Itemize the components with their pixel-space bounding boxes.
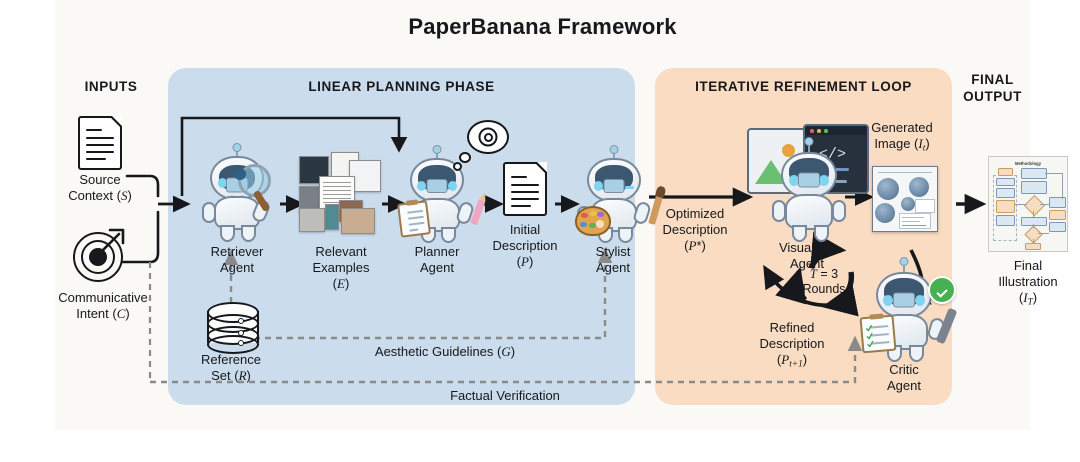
final-illustration-icon: Methodology xyxy=(988,156,1068,252)
aesthetic-guidelines-label: Aesthetic Guidelines (G) xyxy=(295,344,595,360)
gear-icon xyxy=(479,128,498,147)
relevant-examples-label: Relevant Examples (E) xyxy=(293,244,389,292)
retriever-agent-icon xyxy=(194,148,280,240)
source-context-label: Source Context (S) xyxy=(55,172,145,204)
refined-description-label: Refined Description (Pt+1) xyxy=(733,320,851,371)
check-icon xyxy=(867,340,875,348)
doc-fold-inner xyxy=(112,116,122,126)
arrow-icon xyxy=(89,228,133,268)
generated-image-icon xyxy=(872,166,938,232)
check-icon xyxy=(866,332,874,340)
final-illustration-thumb-title: Methodology xyxy=(989,161,1067,166)
doc-line xyxy=(86,137,115,139)
loop-counter-label: T = 3 Rounds xyxy=(788,267,860,298)
doc-line xyxy=(86,144,115,146)
planner-agent-icon xyxy=(395,150,479,240)
approved-badge-icon xyxy=(928,276,956,304)
doc-line xyxy=(86,129,103,131)
initial-description-icon xyxy=(503,162,547,216)
initial-description-label: Initial Description (P) xyxy=(475,222,575,270)
visualizer-agent-icon xyxy=(767,142,851,238)
critic-agent-label: Critic Agent xyxy=(861,362,947,394)
diagram-canvas: PaperBanana Framework INPUTS LINEAR PLAN… xyxy=(55,0,1030,430)
optimized-description-label: Optimized Description (P*) xyxy=(640,206,750,254)
framework-diagram: PaperBanana Framework INPUTS LINEAR PLAN… xyxy=(0,0,1080,462)
generated-image-label: Generated Image (It) xyxy=(847,120,957,155)
doc-line xyxy=(86,151,115,153)
critic-agent-icon xyxy=(861,262,947,358)
check-icon xyxy=(865,324,873,332)
source-context-icon xyxy=(78,116,122,170)
final-illustration-label: Final Illustration (IT) xyxy=(980,258,1076,309)
planner-agent-label: Planner Agent xyxy=(391,244,483,276)
doc-line xyxy=(86,158,107,160)
thought-bubble-icon xyxy=(467,120,509,154)
thought-dot xyxy=(453,162,462,171)
checklist-clipboard-icon xyxy=(859,315,896,354)
retriever-agent-label: Retriever Agent xyxy=(191,244,283,276)
palette-icon xyxy=(575,206,611,236)
communicative-intent-icon xyxy=(73,232,123,282)
factual-verification-label: Factual Verification xyxy=(345,388,665,404)
reference-set-icon xyxy=(207,302,255,350)
reference-set-label: Reference Set (R) xyxy=(185,352,277,384)
thought-dot xyxy=(459,152,471,163)
clipboard-icon xyxy=(397,200,431,237)
magnifier-pupil xyxy=(234,168,246,180)
communicative-intent-label: Communicative Intent (C) xyxy=(47,290,159,322)
relevant-examples-icon xyxy=(297,152,385,234)
